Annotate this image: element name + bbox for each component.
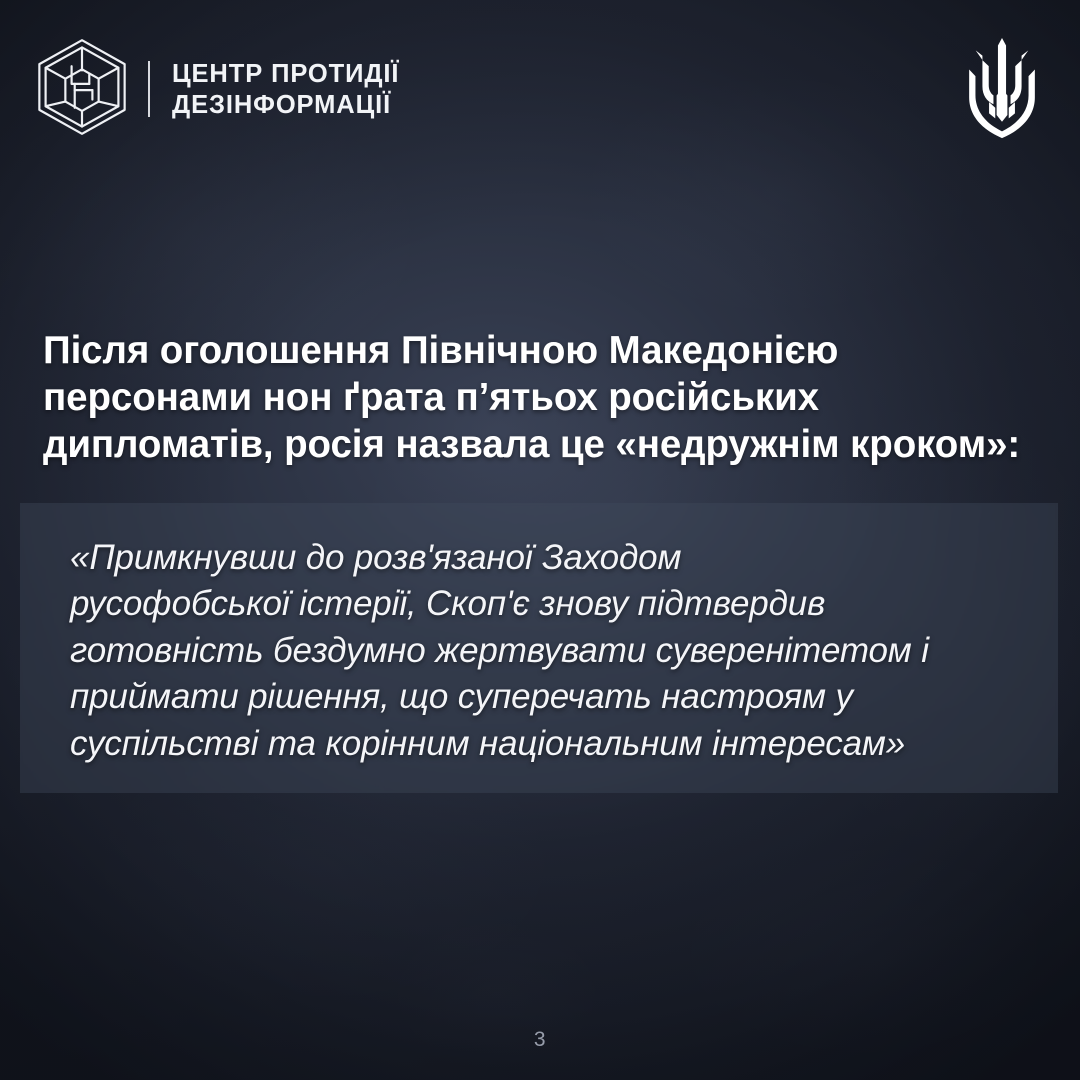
- brand-divider: [148, 61, 150, 117]
- slide-canvas: ЦЕНТР ПРОТИДІЇ ДЕЗІНФОРМАЦІЇ Після оголо…: [0, 0, 1080, 1080]
- quote-text: «Примкнувши до розв'язаної Заходом русоф…: [70, 535, 1036, 767]
- page-title: Після оголошення Північною Македонією пе…: [43, 328, 1056, 468]
- impossible-cube-icon: [30, 35, 134, 139]
- organization-name: ЦЕНТР ПРОТИДІЇ ДЕЗІНФОРМАЦІЇ: [172, 57, 399, 119]
- ukraine-trident-icon: [966, 36, 1038, 140]
- brand-lockup: ЦЕНТР ПРОТИДІЇ ДЕЗІНФОРМАЦІЇ: [30, 38, 399, 139]
- quote-panel: «Примкнувши до розв'язаної Заходом русоф…: [20, 503, 1058, 793]
- slide-header: ЦЕНТР ПРОТИДІЇ ДЕЗІНФОРМАЦІЇ: [0, 0, 1080, 150]
- page-number: 3: [0, 1028, 1080, 1052]
